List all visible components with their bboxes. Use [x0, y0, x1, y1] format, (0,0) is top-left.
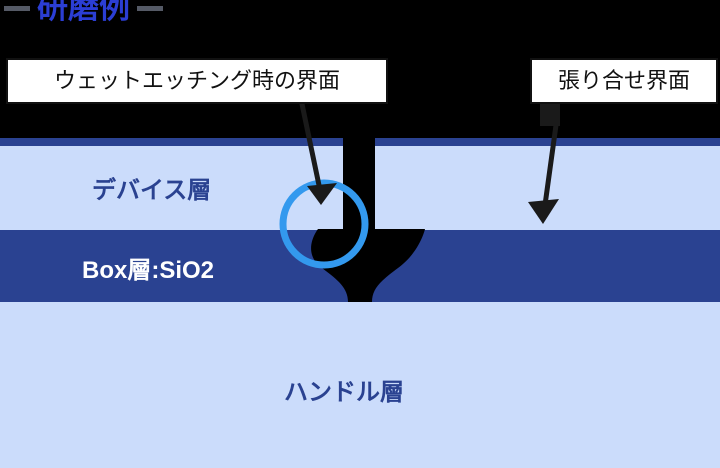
diagram-canvas: 研磨例 デバイス層 Box層:SiO2 ハ	[0, 0, 720, 468]
device-layer-label: デバイス層	[92, 170, 211, 205]
title-dash-left	[4, 6, 30, 11]
handle-layer-label: ハンドル層	[284, 372, 404, 407]
title-dash-right	[137, 6, 163, 11]
callout-bond-interface: 張り合せ界面	[530, 58, 718, 104]
bond-interface-line	[0, 138, 720, 146]
box-layer-label: Box層:SiO2	[82, 250, 214, 285]
title-label: 研磨例	[37, 0, 130, 25]
callout-wet-etch-interface: ウェットエッチング時の界面	[6, 58, 388, 104]
diagram-title: 研磨例	[0, 0, 260, 28]
